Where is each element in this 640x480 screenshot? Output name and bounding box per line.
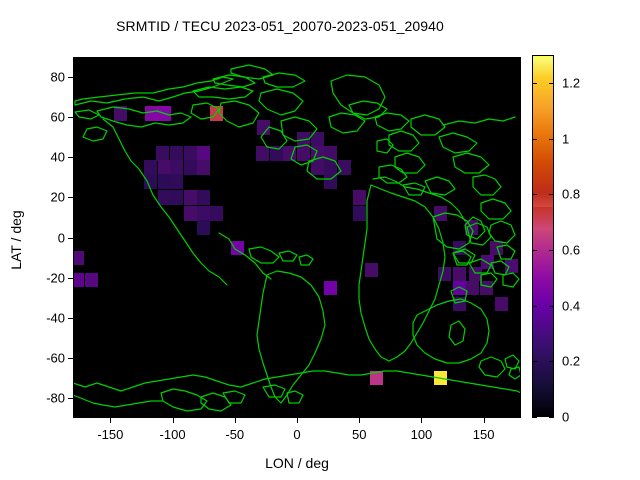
map-plot-area[interactable] [73, 57, 521, 418]
colorbar-tick-mark [549, 417, 554, 418]
x-tick-mark [484, 418, 485, 423]
colorbar-tick-mark [532, 139, 537, 140]
chart-title: SRMTID / TECU 2023-051_20070-2023-051_20… [0, 18, 560, 34]
y-axis-label: LAT / deg [8, 180, 24, 300]
colorbar-tick-mark [549, 361, 554, 362]
y-tick-mark [68, 398, 73, 399]
x-tick-label: 150 [473, 427, 495, 442]
y-tick-mark [68, 197, 73, 198]
x-tick-label: 0 [293, 427, 300, 442]
y-tick-mark [68, 318, 73, 319]
colorbar-tick-mark [532, 417, 537, 418]
y-tick-mark [68, 77, 73, 78]
colorbar-tick-mark [532, 306, 537, 307]
colorbar-tick-mark [549, 306, 554, 307]
y-tick-label: 80 [15, 70, 65, 85]
colorbar[interactable] [532, 55, 554, 417]
y-tick-mark [68, 278, 73, 279]
y-tick-label: -40 [15, 310, 65, 325]
colorbar-tick-label: 0.6 [562, 242, 580, 257]
colorbar-tick-mark [549, 250, 554, 251]
colorbar-tick-label: 0.2 [562, 354, 580, 369]
y-tick-label: 40 [15, 150, 65, 165]
x-tick-mark [297, 418, 298, 423]
x-tick-mark [421, 418, 422, 423]
x-tick-mark [359, 418, 360, 423]
y-tick-label: 60 [15, 110, 65, 125]
colorbar-tick-mark [532, 250, 537, 251]
y-tick-label: -60 [15, 350, 65, 365]
coastline-layer [73, 57, 521, 418]
x-tick-label: -100 [160, 427, 186, 442]
y-tick-mark [68, 157, 73, 158]
x-tick-label: -150 [97, 427, 123, 442]
colorbar-tick-mark [549, 83, 554, 84]
colorbar-tick-mark [549, 194, 554, 195]
x-tick-label: -50 [225, 427, 244, 442]
colorbar-tick-mark [532, 194, 537, 195]
x-tick-mark [173, 418, 174, 423]
x-tick-label: 100 [411, 427, 433, 442]
y-tick-mark [68, 358, 73, 359]
y-tick-mark [68, 117, 73, 118]
x-axis-label: LON / deg [0, 455, 594, 471]
y-tick-mark [68, 238, 73, 239]
colorbar-tick-label: 0.4 [562, 298, 580, 313]
colorbar-tick-mark [532, 83, 537, 84]
colorbar-tick-label: 1.2 [562, 75, 580, 90]
x-tick-mark [110, 418, 111, 423]
colorbar-tick-label: 0 [562, 410, 569, 425]
colorbar-tick-label: 0.8 [562, 187, 580, 202]
colorbar-tick-mark [549, 139, 554, 140]
x-tick-mark [235, 418, 236, 423]
y-tick-label: -80 [15, 390, 65, 405]
figure-canvas: SRMTID / TECU 2023-051_20070-2023-051_20… [0, 0, 640, 480]
x-tick-label: 50 [352, 427, 366, 442]
colorbar-tick-mark [532, 361, 537, 362]
colorbar-tick-label: 1 [562, 131, 569, 146]
